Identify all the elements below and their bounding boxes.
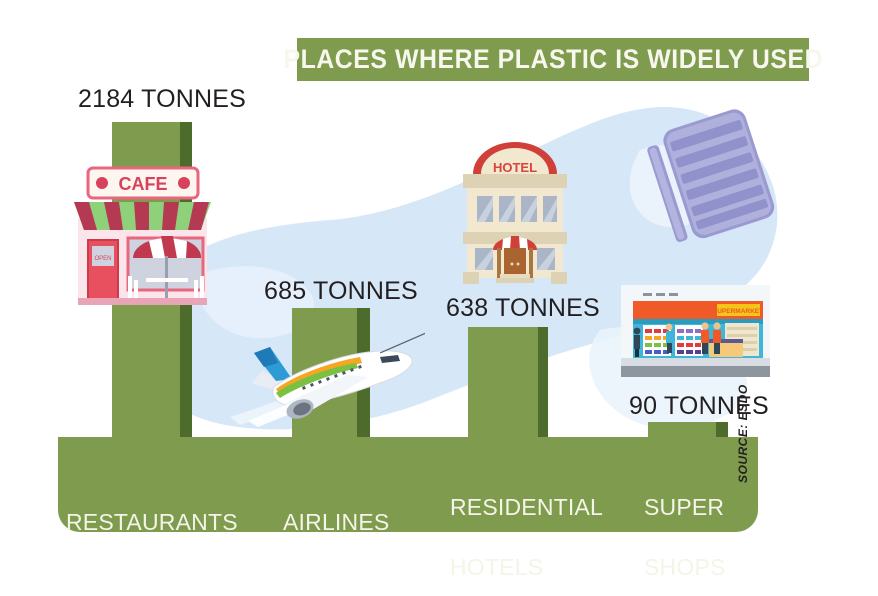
category-line: AIRLINES (283, 507, 389, 537)
infographic-canvas: PLACES WHERE PLASTIC IS WIDELY USED CAFE (0, 0, 878, 596)
cafe-illustration: CAFE OPEN (70, 160, 215, 305)
bar-residential-hotels (468, 327, 548, 452)
category-line: SUPER (644, 492, 726, 522)
svg-text:CAFE: CAFE (119, 174, 168, 194)
svg-text:OPEN: OPEN (94, 256, 111, 262)
category-line: RESIDENTIAL (450, 492, 603, 522)
category-label-airlines: AIRLINES (283, 477, 389, 567)
svg-text:HOTEL: HOTEL (493, 160, 537, 175)
category-line: HOTELS (450, 552, 603, 582)
bar-edge (538, 327, 548, 452)
category-label-residential-hotels: RESIDENTIAL HOTELS (450, 462, 603, 596)
source-credit: SOURCE: ESDO (736, 384, 750, 483)
airplane-illustration (230, 325, 425, 430)
value-label-airlines: 685 TONNES (264, 277, 418, 306)
page-title: PLACES WHERE PLASTIC IS WIDELY USED (283, 44, 823, 75)
category-line: RESTAURANTS (66, 507, 238, 537)
supermarket-illustration: SUPERMARKET (613, 285, 778, 390)
category-label-super-shops: SUPER SHOPS (644, 462, 726, 596)
category-line: SHOPS (644, 552, 726, 582)
value-label-restaurants: 2184 TONNES (78, 85, 246, 114)
bar-face (468, 327, 538, 452)
title-banner: PLACES WHERE PLASTIC IS WIDELY USED (297, 38, 809, 81)
value-label-residential-hotels: 638 TONNES (446, 294, 600, 323)
hotel-illustration: HOTEL (455, 142, 575, 287)
plastic-mattress-illustration (640, 100, 790, 250)
category-label-restaurants: RESTAURANTS (66, 477, 238, 567)
svg-text:SUPERMARKET: SUPERMARKET (713, 308, 763, 315)
